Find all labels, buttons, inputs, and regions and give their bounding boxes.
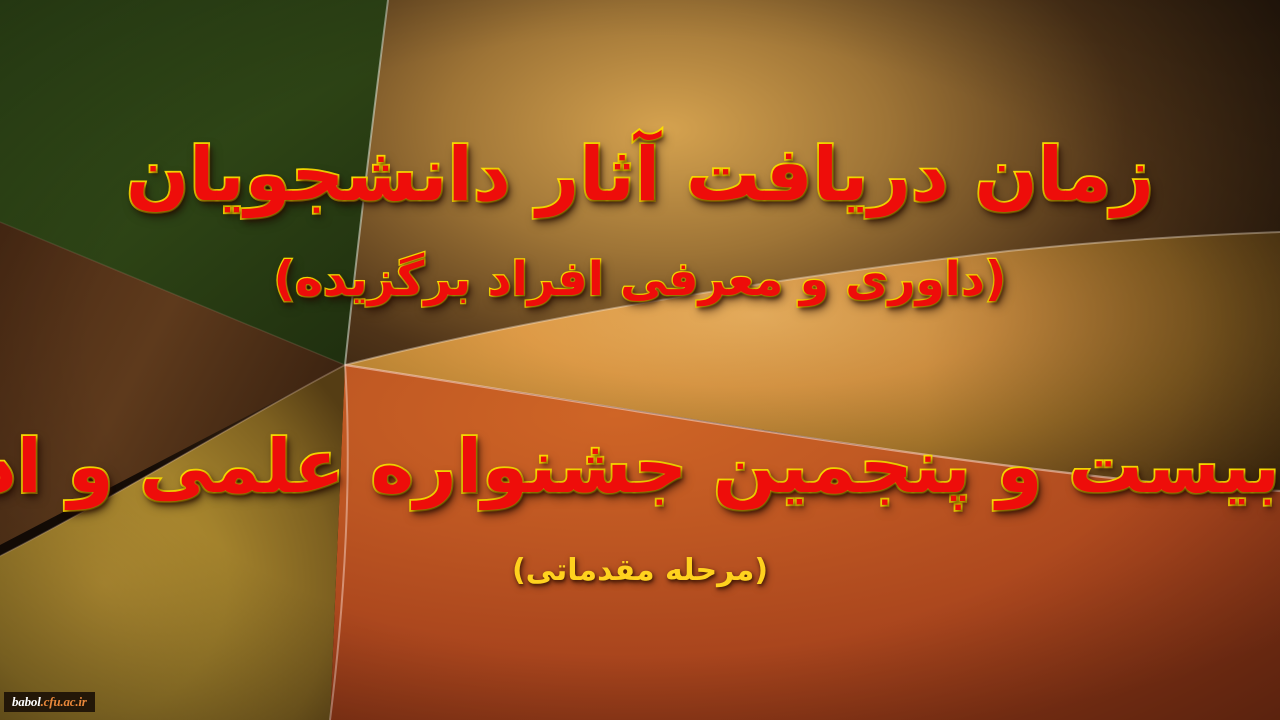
festival-title: بیست و پنجمین جشنواره علمی و ادبی bbox=[0, 428, 1280, 506]
announcement-banner: زمان دریافت آثار دانشجویان (داوری و معرف… bbox=[0, 0, 1280, 720]
watermark-site-name: babol bbox=[12, 694, 41, 709]
poster-text-layer: زمان دریافت آثار دانشجویان (داوری و معرف… bbox=[0, 0, 1280, 720]
watermark-site-domain: .cfu.ac.ir bbox=[41, 694, 87, 709]
site-watermark: babol.cfu.ac.ir bbox=[4, 692, 95, 712]
page-subtitle: (داوری و معرفی افراد برگزیده) bbox=[0, 255, 1280, 305]
page-title: زمان دریافت آثار دانشجویان bbox=[0, 136, 1280, 214]
stage-note: (مرحله مقدماتی) bbox=[0, 554, 1280, 587]
